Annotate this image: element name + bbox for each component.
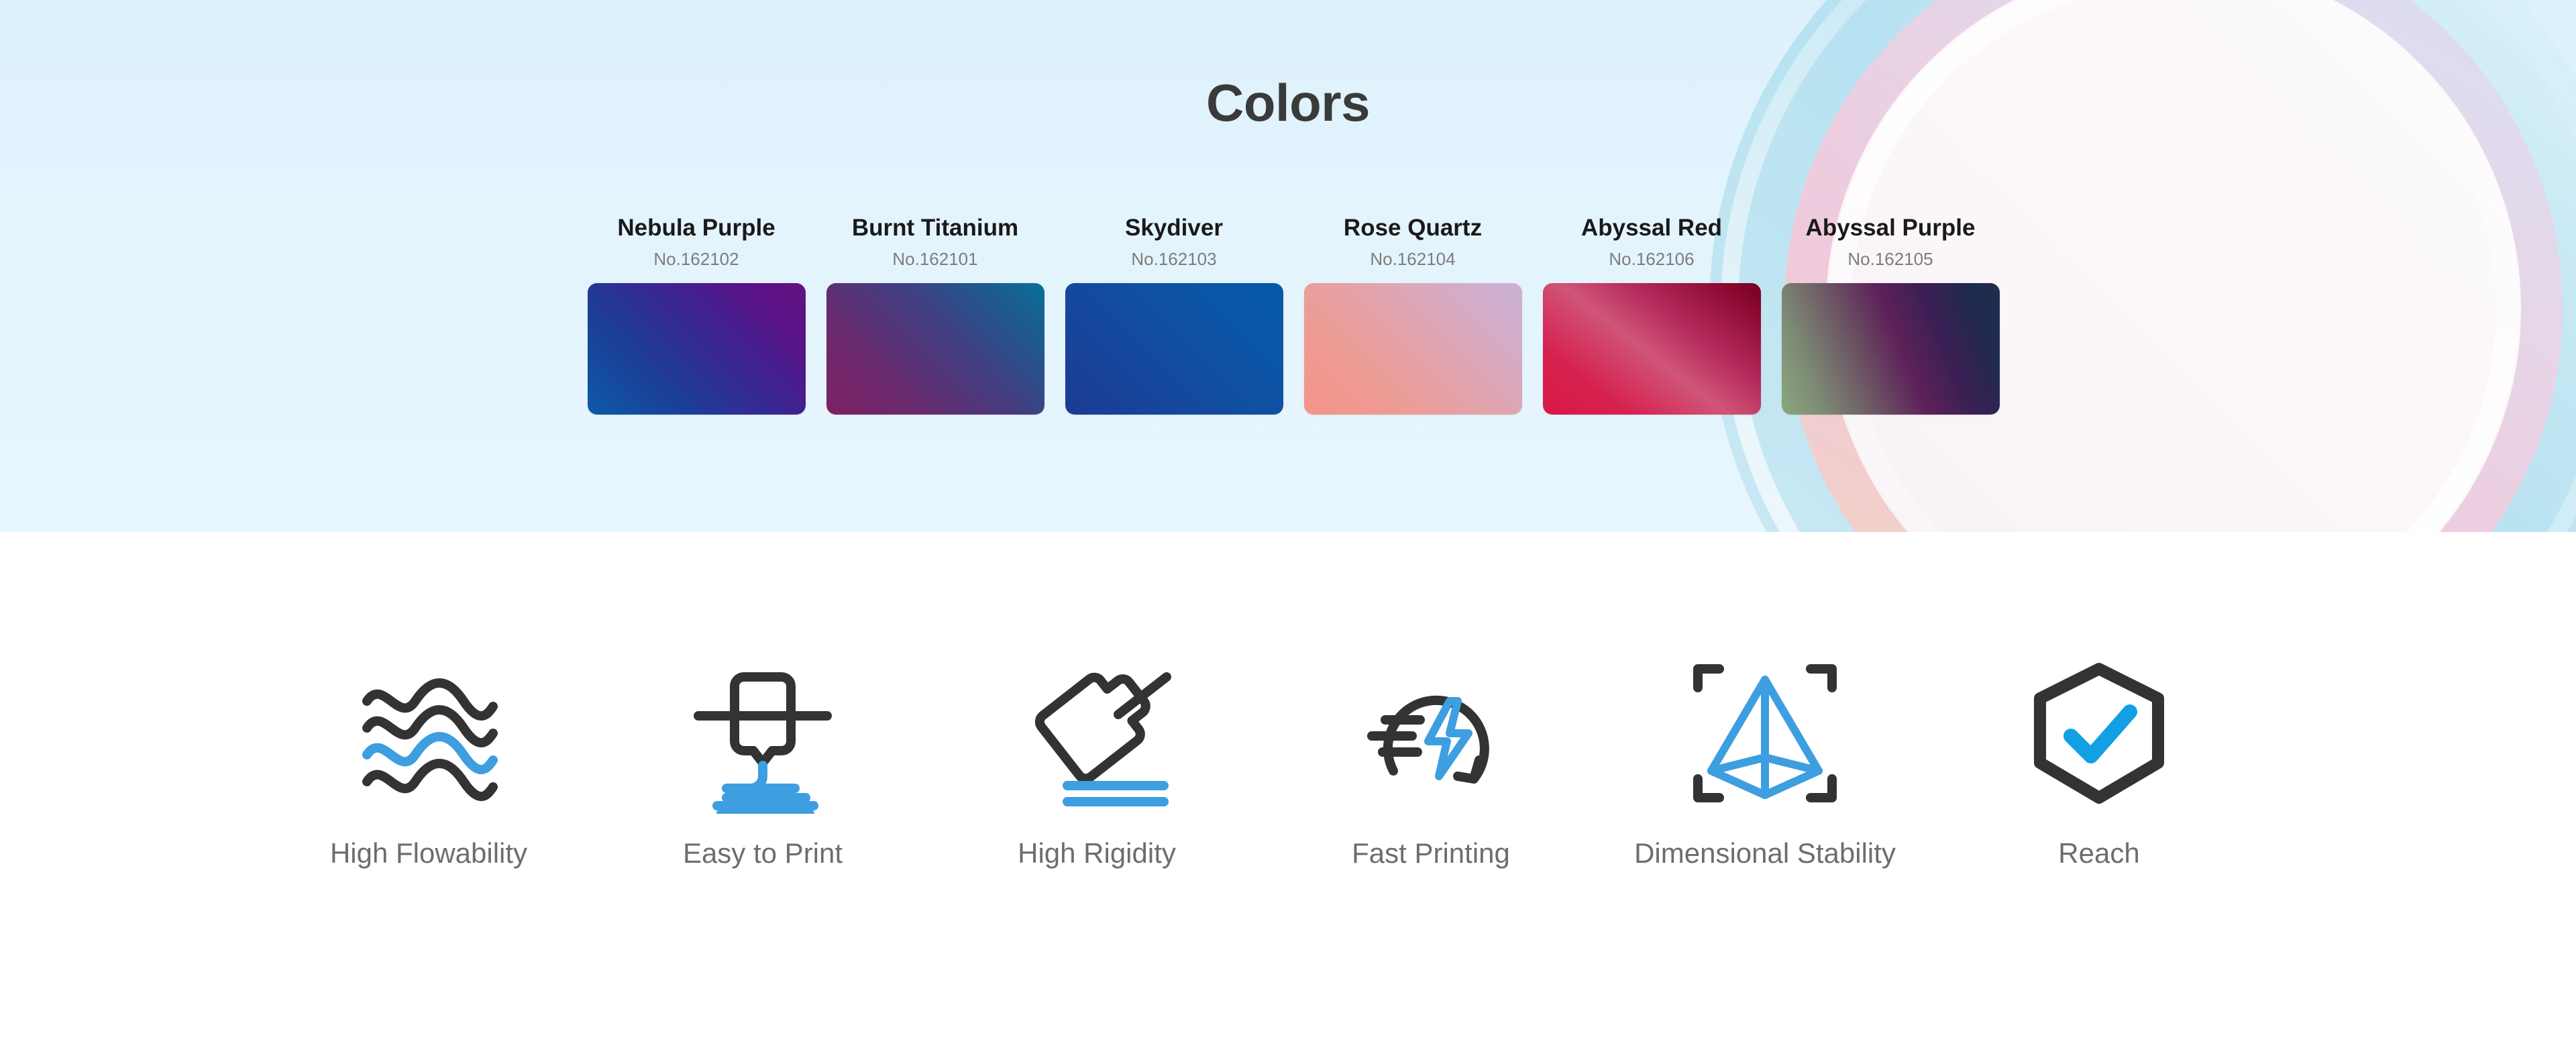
feature-item-high-rigidity[interactable]: High Rigidity: [930, 653, 1264, 870]
swatch-code: No.162105: [1847, 249, 1933, 270]
color-swatch-card[interactable]: Rose Quartz No.162104: [1293, 215, 1532, 415]
color-swatch-card[interactable]: Skydiver No.162103: [1055, 215, 1293, 415]
swatch-name: Abyssal Red: [1581, 215, 1722, 242]
features-section: High Flowability: [0, 532, 2576, 1060]
feature-item-high-flowability[interactable]: High Flowability: [262, 653, 596, 870]
hammer-icon: [1016, 653, 1177, 814]
feature-label: Fast Printing: [1352, 837, 1510, 870]
swatch-chip[interactable]: [1543, 283, 1761, 415]
extruder-nozzle-icon: [682, 653, 843, 814]
color-swatch-card[interactable]: Abyssal Purple No.162105: [1771, 215, 2010, 415]
feature-label: High Flowability: [330, 837, 527, 870]
swatch-code: No.162104: [1370, 249, 1455, 270]
feature-item-dimensional-stability[interactable]: Dimensional Stability: [1598, 653, 1932, 870]
color-swatch-card[interactable]: Nebula Purple No.162102: [577, 215, 816, 415]
swatch-name: Rose Quartz: [1344, 215, 1482, 242]
swatch-chip[interactable]: [588, 283, 806, 415]
swatch-name: Abyssal Purple: [1806, 215, 1976, 242]
wave-lines-icon: [348, 653, 509, 814]
swatch-code: No.162106: [1609, 249, 1694, 270]
speed-lightning-icon: [1350, 653, 1511, 814]
swatch-name: Skydiver: [1125, 215, 1223, 242]
swatch-code: No.162102: [653, 249, 739, 270]
swatch-name: Burnt Titanium: [852, 215, 1018, 242]
feature-label: High Rigidity: [1018, 837, 1176, 870]
feature-item-easy-to-print[interactable]: Easy to Print: [596, 653, 930, 870]
color-swatch-card[interactable]: Abyssal Red No.162106: [1532, 215, 1771, 415]
page-title: Colors: [0, 72, 2576, 134]
feature-label: Dimensional Stability: [1634, 837, 1896, 870]
swatch-chip[interactable]: [826, 283, 1044, 415]
swatch-chip[interactable]: [1304, 283, 1522, 415]
features-row: High Flowability: [262, 653, 2267, 870]
feature-item-fast-printing[interactable]: Fast Printing: [1264, 653, 1598, 870]
swatch-chip[interactable]: [1065, 283, 1283, 415]
swatch-code: No.162101: [892, 249, 977, 270]
swatch-name: Nebula Purple: [617, 215, 775, 242]
color-swatch-card[interactable]: Burnt Titanium No.162101: [816, 215, 1055, 415]
wireframe-pyramid-icon: [1684, 653, 1845, 814]
swatch-chip[interactable]: [1782, 283, 2000, 415]
color-swatch-row: Nebula Purple No.162102 Burnt Titanium N…: [577, 215, 2012, 415]
feature-label: Easy to Print: [683, 837, 843, 870]
colors-section: Colors Nebula Purple No.162102 Burnt Tit…: [0, 0, 2576, 532]
shield-check-icon: [2019, 653, 2180, 814]
swatch-code: No.162103: [1131, 249, 1216, 270]
feature-label: Reach: [2058, 837, 2139, 870]
page-root: Colors Nebula Purple No.162102 Burnt Tit…: [0, 0, 2576, 1060]
feature-item-reach[interactable]: Reach: [1932, 653, 2266, 870]
